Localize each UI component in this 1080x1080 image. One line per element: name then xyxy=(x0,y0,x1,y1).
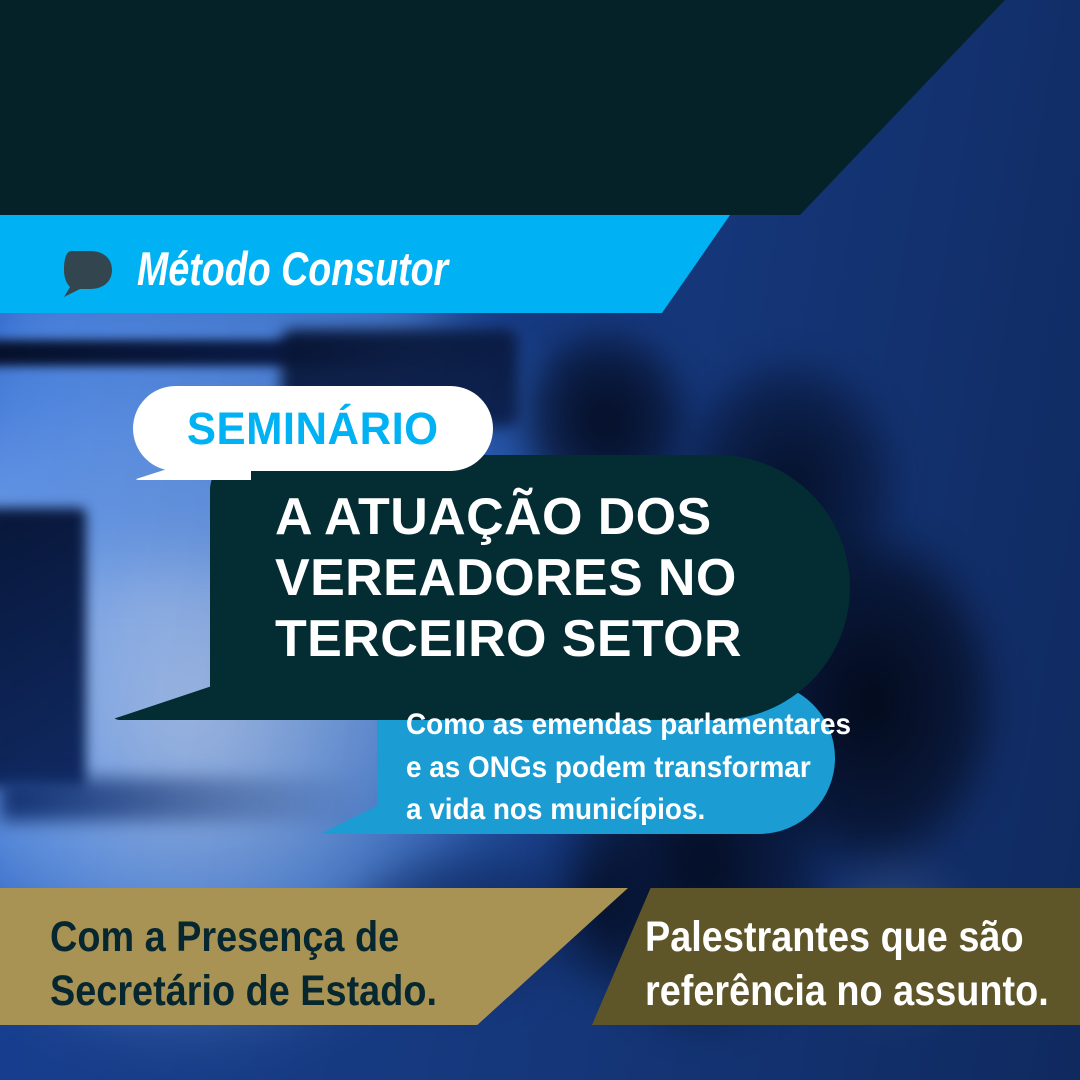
badge-bubble: SEMINÁRIO xyxy=(133,386,493,471)
footer-left-text: Com a Presença de Secretário de Estado. xyxy=(50,910,437,1018)
subtitle-line-2: e as ONGs podem transformar xyxy=(406,747,851,790)
footer-left-line-1: Com a Presença de xyxy=(50,910,437,964)
badge-label: SEMINÁRIO xyxy=(187,403,439,455)
footer-right-line-2: referência no assunto. xyxy=(645,964,1049,1018)
subtitle-line-1: Como as emendas parlamentares xyxy=(406,704,851,747)
title-line-2: VEREADORES NO xyxy=(275,548,875,609)
speech-bubble-icon xyxy=(60,247,116,299)
seminar-badge: SEMINÁRIO xyxy=(133,386,493,471)
footer-right-line-1: Palestrantes que são xyxy=(645,910,1049,964)
title-line-3: TERCEIRO SETOR xyxy=(275,609,875,670)
footer-right-text: Palestrantes que são referência no assun… xyxy=(645,910,1049,1018)
event-subtitle: Como as emendas parlamentares e as ONGs … xyxy=(406,704,851,832)
subtitle-line-3: a vida nos municípios. xyxy=(406,789,851,832)
brand-name: Método Consutor xyxy=(137,243,448,296)
event-poster: 04 a 07 . Novembro . 2025 Curitiba Métod… xyxy=(0,0,1080,1080)
title-line-1: A ATUAÇÃO DOS xyxy=(275,487,875,548)
footer-left-line-2: Secretário de Estado. xyxy=(50,964,437,1018)
event-title: A ATUAÇÃO DOS VEREADORES NO TERCEIRO SET… xyxy=(275,487,875,669)
